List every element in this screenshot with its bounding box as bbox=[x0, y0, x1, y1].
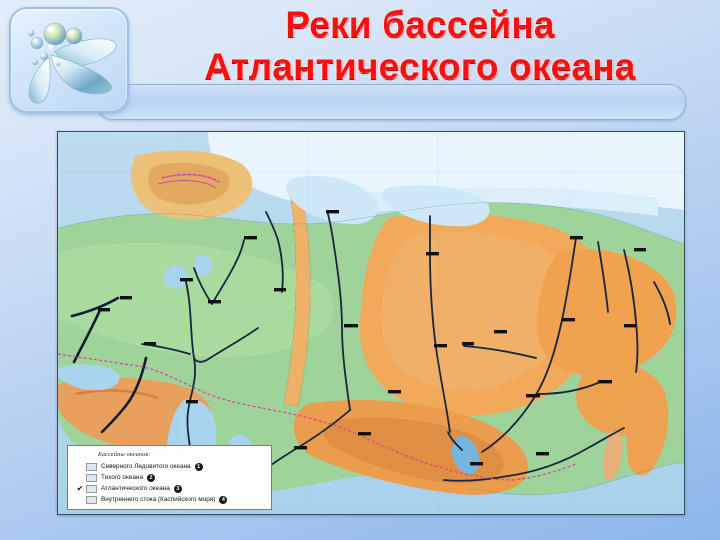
legend-row-atlantic[interactable]: ✔ Атлантического океана 3 bbox=[74, 483, 265, 494]
legend-label-arctic: Северного Ледовитого океана bbox=[101, 463, 191, 470]
legend-swatch-arctic bbox=[86, 463, 97, 471]
map-legend: Бассейны океанов: Северного Ледовитого о… bbox=[67, 445, 272, 510]
legend-label-pacific: Тихого океана bbox=[101, 474, 143, 481]
slide-root: Реки бассейна Атлантического океана bbox=[0, 0, 720, 540]
header-banner-ribbon bbox=[96, 84, 686, 120]
slide-title: Реки бассейна Атлантического океана bbox=[150, 6, 690, 85]
water-drops-logo bbox=[9, 7, 129, 113]
legend-number-arctic: 1 bbox=[195, 463, 203, 471]
legend-row-internal[interactable]: Внутреннего стока (Каспийского моря) 4 bbox=[74, 494, 265, 505]
legend-number-atlantic: 3 bbox=[174, 485, 182, 493]
legend-title: Бассейны океанов: bbox=[98, 451, 265, 458]
legend-number-pacific: 2 bbox=[147, 474, 155, 482]
legend-swatch-pacific bbox=[86, 474, 97, 482]
title-line-1: Реки бассейна bbox=[150, 6, 690, 44]
title-line-2: Атлантического океана bbox=[150, 48, 690, 86]
legend-row-arctic[interactable]: Северного Ледовитого океана 1 bbox=[74, 461, 265, 472]
legend-swatch-atlantic bbox=[86, 485, 97, 493]
physical-map-of-russia: Бассейны океанов: Северного Ледовитого о… bbox=[57, 131, 685, 515]
legend-check-atlantic: ✔ bbox=[74, 485, 86, 493]
legend-swatch-internal bbox=[86, 496, 97, 504]
legend-label-internal: Внутреннего стока (Каспийского моря) bbox=[101, 496, 215, 503]
legend-label-atlantic: Атлантического океана bbox=[101, 485, 170, 492]
legend-row-pacific[interactable]: Тихого океана 2 bbox=[74, 472, 265, 483]
legend-number-internal: 4 bbox=[219, 496, 227, 504]
